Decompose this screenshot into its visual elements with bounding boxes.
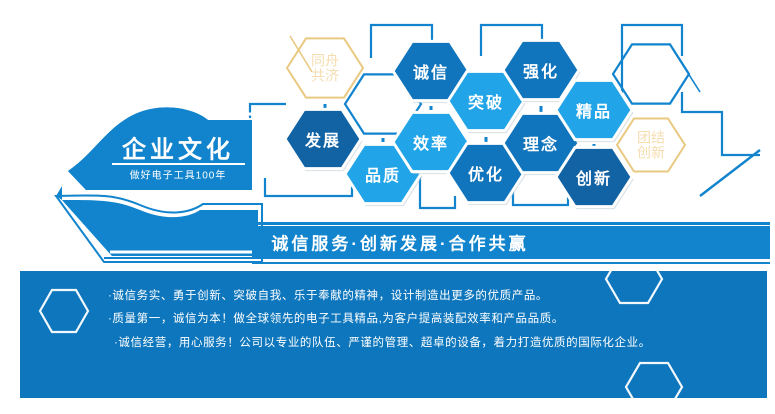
philosophy-line: ·诚信经营，用心服务！公司以专业的队伍、严谨的管理、超卓的设备，着力打造优质的国…: [108, 336, 748, 350]
banner-subtitle: 做好电子工具100年: [130, 167, 227, 182]
hexagon-tuanjie-chuangxin[interactable]: [617, 119, 685, 172]
philosophy-panel: ·诚信务实、勇于创新、突破自我、乐于奉献的精神，设计制造出更多的优质产品。·质量…: [20, 271, 767, 398]
hexagon-tongzhou-gongji[interactable]: [287, 38, 363, 97]
banner-title: 企业文化: [122, 130, 234, 165]
philosophy-line: ·质量第一，诚信为本！做全球领先的电子工具精品,为客户提高装配效率和产品品质。: [108, 312, 748, 326]
hexagon-outline-bottom-right: [626, 363, 682, 398]
hexagon-cluster: [285, 38, 689, 209]
company-slogan: 诚信服务·创新发展·合作共赢: [271, 230, 528, 255]
hexagon-empty-outline-2[interactable]: [613, 44, 689, 103]
banner-divider: [112, 163, 245, 165]
hexagon-outline-left: [40, 290, 88, 332]
philosophy-line: ·诚信务实、勇于创新、突破自我、乐于奉献的精神，设计制造出更多的优质产品。: [108, 289, 748, 303]
culture-wall-graphic: 同舟共济发展品质诚信效率突破优化强化理念精品创新团结创新 企业文化 做好电子工具…: [0, 0, 775, 414]
philosophy-text-block: ·诚信务实、勇于创新、突破自我、乐于奉献的精神，设计制造出更多的优质产品。·质量…: [108, 289, 748, 359]
